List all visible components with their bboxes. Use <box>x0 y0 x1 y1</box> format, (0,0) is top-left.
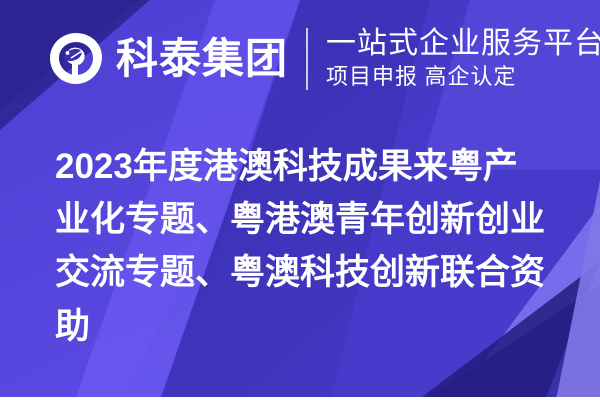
page-title: 2023年度港澳科技成果来粤产业化专题、粤港澳青年创新创业交流专题、粤澳科技创新… <box>0 140 600 353</box>
promo-banner: 科泰集团 一站式企业服务平台 项目申报 高企认定 2023年度港澳科技成果来粤产… <box>0 0 600 400</box>
tagline-sub: 项目申报 高企认定 <box>326 63 600 91</box>
vertical-divider-icon <box>306 28 308 90</box>
tagline-main: 一站式企业服务平台 <box>326 27 600 61</box>
tagline-block: 一站式企业服务平台 项目申报 高企认定 <box>326 27 600 90</box>
brand-name: 科泰集团 <box>116 38 288 80</box>
banner-header: 科泰集团 一站式企业服务平台 项目申报 高企认定 <box>0 0 600 118</box>
ketai-circle-logo-icon <box>48 31 104 87</box>
